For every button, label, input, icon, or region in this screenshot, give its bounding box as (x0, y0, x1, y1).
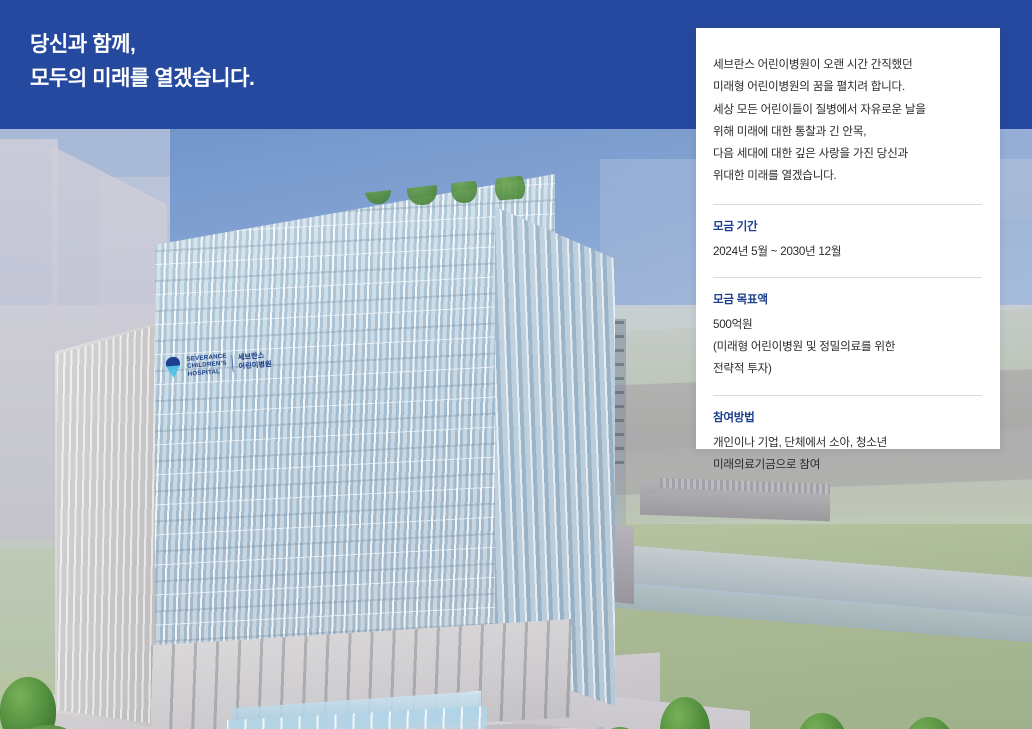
page-stage: SEVERANCE CHILDREN'S HOSPITAL 세브란스 어린이병원 (0, 0, 1032, 729)
signage-divider (232, 355, 234, 372)
campaign-info-card: 세브란스 어린이병원이 오랜 시간 간직했던 미래형 어린이병원의 꿈을 펼치려… (696, 28, 1000, 449)
section-divider (713, 395, 982, 396)
ghost-building-a (0, 139, 58, 539)
section-body-goal: 500억원 (미래형 어린이병원 및 정밀의료를 위한 전략적 투자) (713, 314, 982, 381)
section-divider (713, 277, 982, 278)
campaign-detail-sections: 모금 기간 2024년 5월 ~ 2030년 12월 모금 목표액 500억원 … (713, 204, 982, 477)
detail-section-period: 모금 기간 2024년 5월 ~ 2030년 12월 (713, 204, 982, 263)
section-title-period: 모금 기간 (713, 218, 982, 234)
severance-childrens-hospital-building: SEVERANCE CHILDREN'S HOSPITAL 세브란스 어린이병원 (55, 164, 615, 729)
tower-west-slab-fins (57, 322, 167, 726)
detail-section-goal: 모금 목표액 500억원 (미래형 어린이병원 및 정밀의료를 위한 전략적 투… (713, 277, 982, 381)
section-title-participation: 참여방법 (713, 409, 982, 425)
tree (796, 713, 848, 729)
campaign-intro-text: 세브란스 어린이병원이 오랜 시간 간직했던 미래형 어린이병원의 꿈을 펼치려… (713, 54, 982, 188)
signage-korean-text: 세브란스 어린이병원 (238, 351, 272, 371)
severance-logo-icon (164, 356, 183, 379)
tree (900, 717, 958, 729)
signage-english-text: SEVERANCE CHILDREN'S HOSPITAL (186, 353, 228, 378)
section-body-period: 2024년 5월 ~ 2030년 12월 (713, 241, 982, 263)
section-divider (713, 204, 982, 205)
tree (660, 697, 710, 729)
detail-section-participation: 참여방법 개인이나 기업, 단체에서 소아, 청소년 미래의료기금으로 참여 (713, 395, 982, 477)
section-title-goal: 모금 목표액 (713, 291, 982, 307)
tree (0, 677, 56, 729)
page-headline: 당신과 함께, 모두의 미래를 열겠습니다. (30, 28, 254, 96)
section-body-participation: 개인이나 기업, 단체에서 소아, 청소년 미래의료기금으로 참여 (713, 432, 982, 477)
